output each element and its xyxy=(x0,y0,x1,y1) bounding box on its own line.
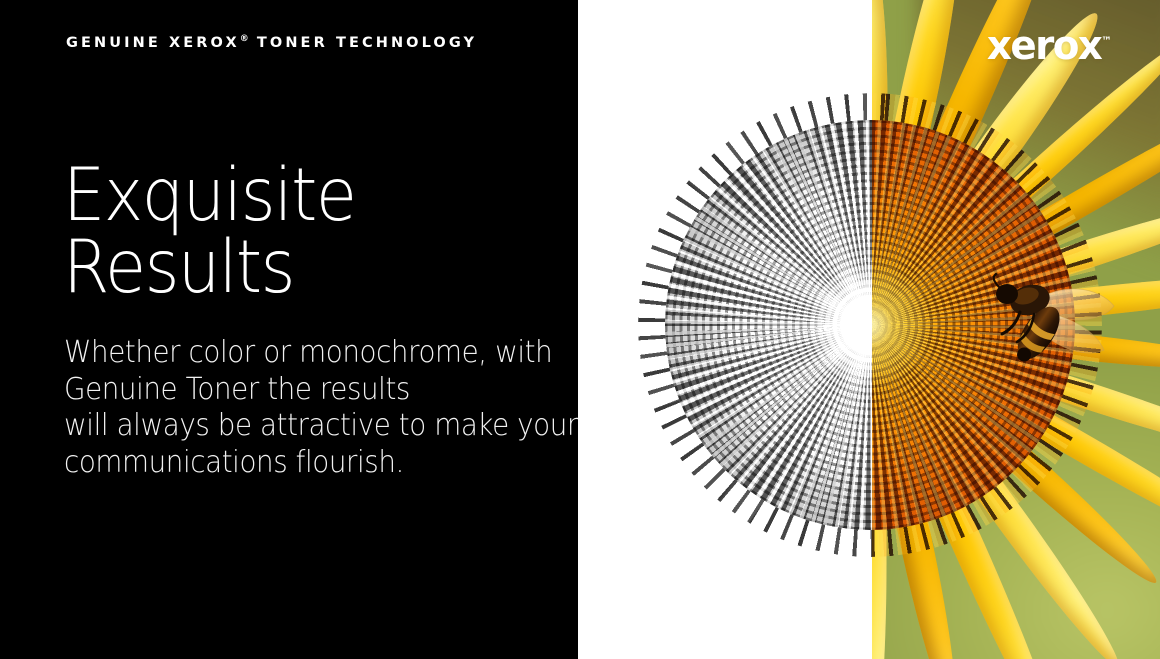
registered-mark: ® xyxy=(240,34,249,44)
headline-line-1: Exquisite xyxy=(63,160,355,232)
grayscale-overlay xyxy=(578,0,872,659)
page-title: Exquisite Results xyxy=(63,160,355,303)
honeybee-icon xyxy=(990,272,1122,380)
body-line-1: Whether color or monochrome, with xyxy=(64,335,578,372)
xerox-logo: xerox™ xyxy=(987,26,1112,66)
copy-panel: GENUINE XEROX® TONER TECHNOLOGY Exquisit… xyxy=(0,0,578,659)
xerox-logo-text: xerox xyxy=(987,23,1101,69)
trademark-mark: ™ xyxy=(1101,35,1112,48)
body-line-4: communications flourish. xyxy=(64,445,578,482)
hero-image xyxy=(578,0,1160,659)
marketing-banner: GENUINE XEROX® TONER TECHNOLOGY Exquisit… xyxy=(0,0,1160,659)
eyebrow-text: GENUINE XEROX® TONER TECHNOLOGY xyxy=(66,34,477,51)
body-copy: Whether color or monochrome, with Genuin… xyxy=(64,335,578,481)
body-line-2: Genuine Toner the results xyxy=(64,372,578,409)
eyebrow-text-before: GENUINE XEROX xyxy=(66,35,240,51)
headline-line-2: Results xyxy=(63,232,355,304)
body-line-3: will always be attractive to make your xyxy=(64,408,578,445)
eyebrow-text-after: TONER TECHNOLOGY xyxy=(257,35,477,51)
